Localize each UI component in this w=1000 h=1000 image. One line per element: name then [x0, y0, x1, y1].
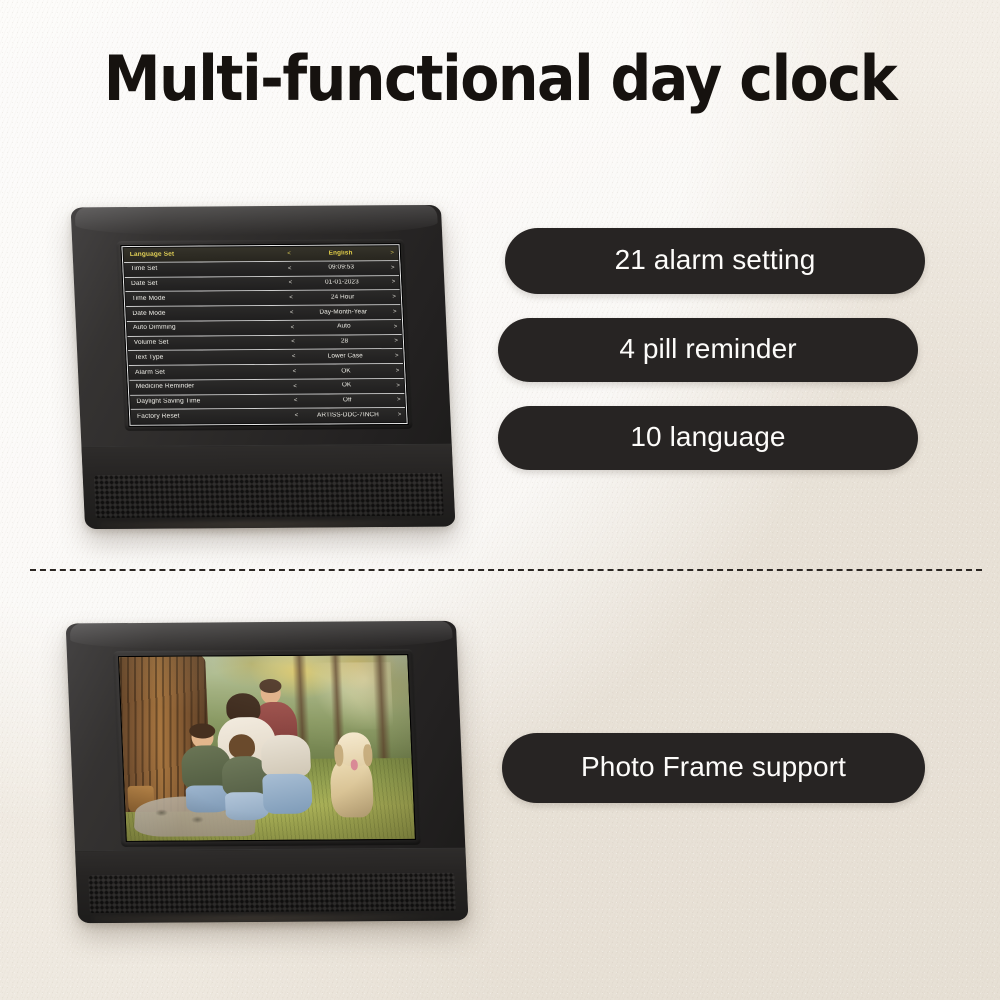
osd-row-value-group: <24 Hour>	[285, 294, 400, 301]
osd-row-label: Daylight Saving Time	[130, 398, 290, 406]
speaker-grille	[94, 473, 444, 518]
device-photo-frame	[66, 621, 469, 923]
osd-row-value: Off	[297, 397, 397, 404]
chevron-right-icon[interactable]: >	[398, 412, 402, 418]
photo-dog-ear	[363, 744, 373, 766]
osd-row-value-group: <Off>	[290, 397, 405, 404]
chevron-right-icon[interactable]: >	[391, 265, 395, 271]
feature-pill-photo-frame-support[interactable]: Photo Frame support	[502, 733, 925, 803]
feature-pill-label: 4 pill reminder	[619, 333, 796, 365]
speaker-grille	[88, 873, 456, 913]
photo-screen[interactable]	[119, 655, 415, 841]
chevron-right-icon[interactable]: >	[395, 353, 399, 359]
chevron-right-icon[interactable]: >	[390, 250, 394, 256]
osd-row-label: Date Set	[125, 280, 285, 288]
photo-hair	[259, 679, 282, 693]
osd-row-value-group: <09:09:53>	[284, 265, 399, 272]
photo-torso	[261, 734, 312, 777]
osd-row-label: Medicine Reminder	[130, 383, 290, 391]
feature-pill-label: 21 alarm setting	[615, 244, 816, 276]
osd-row-value-group: <28>	[287, 338, 402, 345]
chevron-right-icon[interactable]: >	[393, 309, 397, 315]
photo-dog-tongue	[350, 760, 357, 770]
osd-row-value: Day-Month-Year	[293, 309, 393, 316]
osd-row-value-group: <OK>	[289, 382, 404, 389]
feature-pill-label: Photo Frame support	[581, 751, 846, 783]
osd-row-label: Time Mode	[126, 295, 286, 303]
photo-dog-ear	[334, 745, 344, 767]
feature-pill-language[interactable]: 10 language	[498, 406, 918, 470]
chevron-right-icon[interactable]: >	[392, 294, 396, 300]
screen-bezel: Language Set<English>Time Set<09:09:53>D…	[116, 239, 413, 431]
osd-row-value-group: <Auto>	[287, 323, 402, 330]
page-background: Multi-functional day clock Language Set<…	[0, 0, 1000, 1000]
osd-row-value-group: <Day-Month-Year>	[286, 309, 401, 316]
photo-hair	[189, 723, 215, 738]
settings-screen[interactable]: Language Set<English>Time Set<09:09:53>D…	[121, 244, 407, 426]
osd-row-value: English	[291, 250, 391, 257]
osd-row-value: ARTISS-DDC-7INCH	[298, 412, 398, 419]
family-photo	[119, 655, 415, 841]
section-divider	[30, 569, 982, 571]
osd-row-label: Alarm Set	[129, 368, 289, 376]
osd-menu[interactable]: Language Set<English>Time Set<09:09:53>D…	[121, 244, 407, 426]
osd-row-value: 01-01-2023	[292, 279, 392, 286]
photo-legs	[262, 773, 313, 814]
osd-row-value: 24 Hour	[293, 294, 393, 301]
chevron-right-icon[interactable]: >	[396, 383, 400, 389]
osd-row-label: Volume Set	[128, 339, 288, 347]
osd-row-label: Language Set	[124, 251, 284, 259]
chevron-right-icon[interactable]: >	[392, 280, 396, 286]
osd-row-value: 09:09:53	[291, 265, 391, 272]
device-base	[81, 444, 455, 529]
osd-row-value: Lower Case	[295, 353, 395, 360]
osd-row-value-group: <English>	[283, 250, 398, 257]
feature-pill-pill-reminder[interactable]: 4 pill reminder	[498, 318, 918, 382]
osd-row-value: 28	[295, 338, 395, 345]
osd-row-value: OK	[297, 382, 397, 389]
chevron-right-icon[interactable]: >	[394, 338, 398, 344]
osd-row-value-group: <Lower Case>	[288, 353, 403, 360]
page-title: Multi-functional day clock	[40, 42, 960, 115]
osd-row[interactable]: Factory Reset<ARTISS-DDC-7INCH>	[131, 408, 406, 424]
osd-row-value: Auto	[294, 324, 394, 331]
photo-hair	[229, 734, 256, 758]
device-base	[75, 848, 468, 924]
chevron-right-icon[interactable]: >	[397, 397, 401, 403]
osd-row-label: Factory Reset	[131, 413, 291, 421]
osd-row-label: Auto Dimming	[127, 324, 287, 332]
osd-row-value-group: <OK>	[289, 368, 404, 375]
chevron-right-icon[interactable]: >	[396, 368, 400, 374]
photo-person-teen	[260, 729, 313, 814]
feature-pill-alarm-setting[interactable]: 21 alarm setting	[505, 228, 925, 294]
chevron-right-icon[interactable]: >	[394, 324, 398, 330]
osd-row-value-group: <ARTISS-DDC-7INCH>	[291, 412, 406, 419]
device-day-clock: Language Set<English>Time Set<09:09:53>D…	[71, 205, 456, 529]
feature-pill-label: 10 language	[630, 421, 785, 453]
osd-row-label: Time Set	[124, 265, 284, 273]
osd-row-label: Date Mode	[126, 309, 286, 317]
osd-row-value-group: <01-01-2023>	[285, 279, 400, 286]
osd-row-value: OK	[296, 368, 396, 375]
osd-row-label: Text Type	[128, 354, 288, 362]
photo-golden-retriever	[324, 733, 385, 818]
screen-bezel	[113, 649, 421, 847]
